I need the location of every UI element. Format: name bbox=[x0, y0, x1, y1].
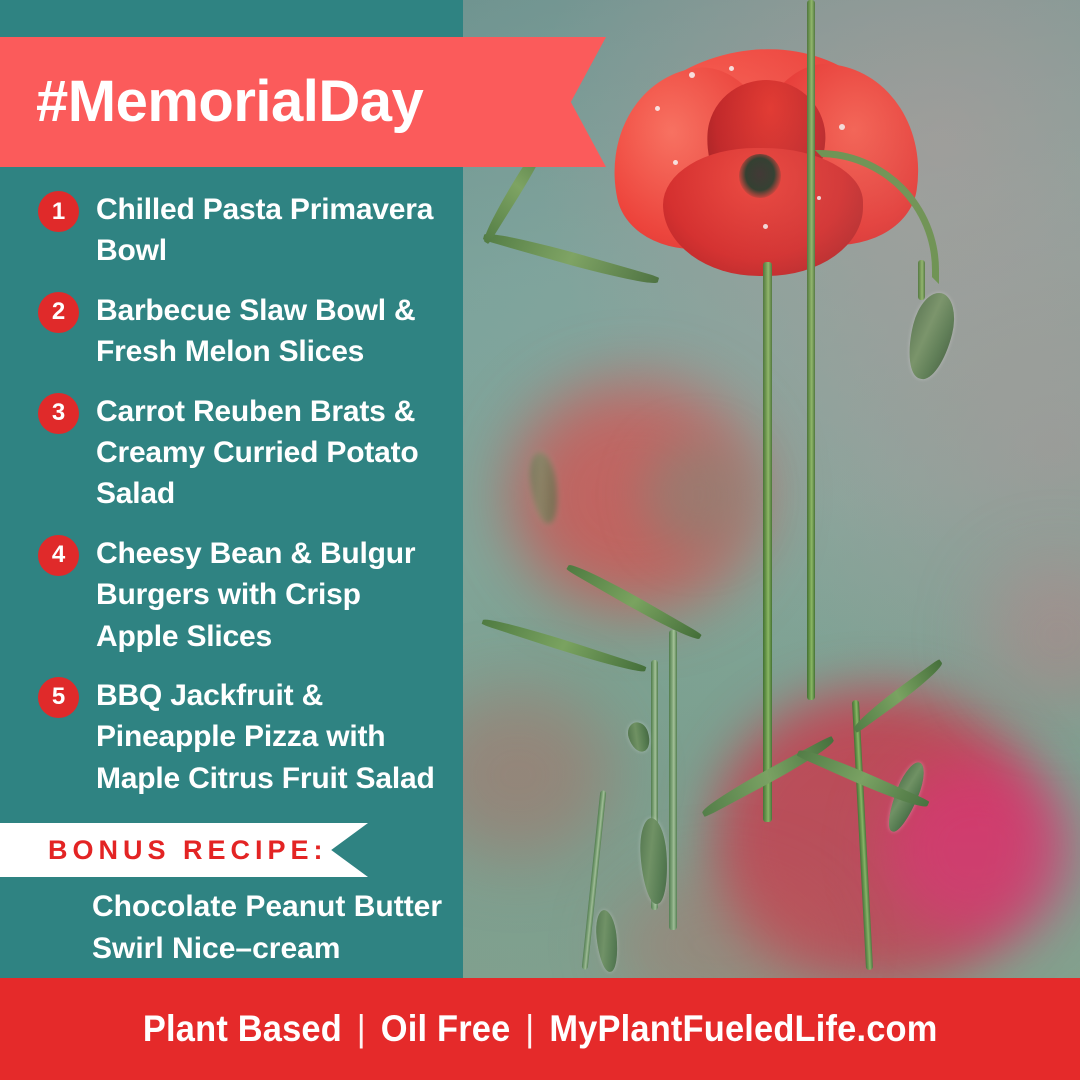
list-item: 4 Cheesy Bean & Bulgur Burgers with Cris… bbox=[0, 533, 463, 657]
page-title: #MemorialDay bbox=[0, 73, 423, 131]
list-item: 1 Chilled Pasta Primavera Bowl bbox=[0, 189, 463, 272]
recipe-number-badge: 1 bbox=[38, 191, 79, 232]
recipe-list: 1 Chilled Pasta Primavera Bowl 2 Barbecu… bbox=[0, 189, 463, 817]
footer-website-link[interactable]: MyPlantFueledLife.com bbox=[549, 1008, 937, 1050]
footer-bar: Plant Based | Oil Free | MyPlantFueledLi… bbox=[0, 978, 1080, 1080]
title-ribbon: #MemorialDay bbox=[0, 37, 606, 167]
list-item: 2 Barbecue Slaw Bowl & Fresh Melon Slice… bbox=[0, 290, 463, 373]
footer-item-oil-free: Oil Free bbox=[381, 1008, 511, 1050]
recipe-name: Chilled Pasta Primavera Bowl bbox=[96, 189, 446, 272]
list-item: 5 BBQ Jackfruit & Pineapple Pizza with M… bbox=[0, 675, 463, 799]
recipe-name: Barbecue Slaw Bowl & Fresh Melon Slices bbox=[96, 290, 446, 373]
recipe-number-badge: 3 bbox=[38, 393, 79, 434]
recipe-name: BBQ Jackfruit & Pineapple Pizza with Map… bbox=[96, 675, 446, 799]
footer-item-plant-based: Plant Based bbox=[143, 1008, 342, 1050]
footer-separator: | bbox=[357, 1008, 366, 1050]
bonus-recipe-label: BONUS RECIPE: bbox=[0, 835, 328, 866]
recipe-number-badge: 2 bbox=[38, 292, 79, 333]
footer-separator: | bbox=[525, 1008, 534, 1050]
recipe-number-badge: 4 bbox=[38, 535, 79, 576]
bonus-recipe-description: Chocolate Peanut Butter Swirl Nice–cream bbox=[92, 886, 462, 970]
bonus-recipe-ribbon: BONUS RECIPE: bbox=[0, 823, 368, 877]
recipe-name: Cheesy Bean & Bulgur Burgers with Crisp … bbox=[96, 533, 446, 657]
recipe-number-badge: 5 bbox=[38, 677, 79, 718]
memorial-day-recipe-poster: #MemorialDay 1 Chilled Pasta Primavera B… bbox=[0, 0, 1080, 1080]
list-item: 3 Carrot Reuben Brats & Creamy Curried P… bbox=[0, 391, 463, 515]
footer-text: Plant Based | Oil Free | MyPlantFueledLi… bbox=[143, 1008, 938, 1050]
recipe-name: Carrot Reuben Brats & Creamy Curried Pot… bbox=[96, 391, 446, 515]
